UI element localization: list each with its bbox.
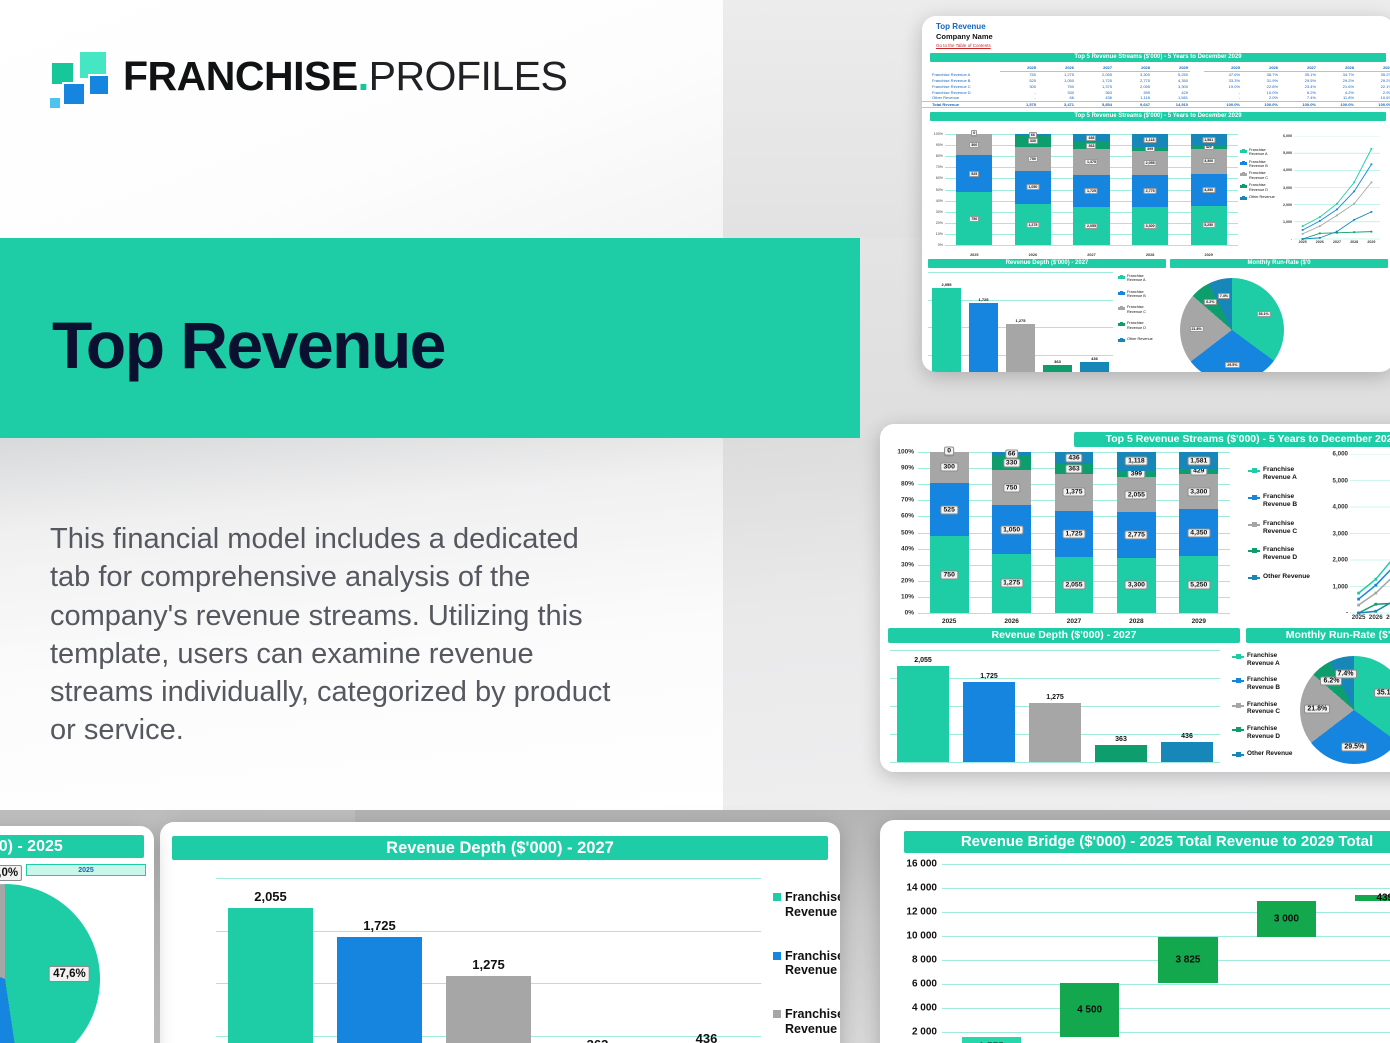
legend-marker	[773, 952, 781, 960]
legend-label: Franchise Revenue A	[1127, 274, 1146, 283]
y-tick: 0%	[938, 243, 943, 247]
x-tick-label: 2027	[1087, 253, 1095, 257]
segment-value-label: 2,055	[1085, 223, 1098, 229]
sheet-subtitle: Company Name	[936, 32, 1390, 41]
revenue-depth-mid: 2,0551,7251,275363436	[890, 650, 1220, 762]
y-tick: 4,000	[1333, 504, 1348, 511]
y-tick: 30%	[901, 561, 914, 568]
legend-marker	[1240, 150, 1247, 153]
x-tick-label: 2028	[1129, 618, 1143, 625]
x-tick: 2027	[1333, 240, 1341, 244]
y-tick: 2 000	[912, 1027, 937, 1038]
stacked-bar: 5,2504,3503,3004291,581	[1179, 452, 1218, 613]
background-panel-top-left	[0, 0, 723, 238]
legend-marker	[1240, 197, 1247, 200]
pie-slice-label: 47,6%	[49, 966, 90, 982]
pie-chart	[0, 884, 100, 1043]
revenue-depth-title: Revenue Depth ($'000) - 2027	[172, 836, 828, 860]
stacked-plot-area: 750525300020251,2751,0507503306620262,05…	[945, 134, 1238, 245]
gridline	[942, 864, 1390, 865]
y-tick: 20%	[901, 577, 914, 584]
bar-value-label: 2,055	[914, 657, 932, 664]
segment-value-label: 1,050	[1000, 525, 1023, 534]
stacked-segment: 1,118	[1132, 134, 1168, 147]
segment-value-label: 2,055	[1062, 581, 1085, 590]
segment-value-label: 3,300	[1202, 158, 1215, 164]
y-tick: 4 000	[912, 1003, 937, 1014]
pie-slice-label: 7.4%	[1335, 670, 1357, 679]
zero-value-label: 0	[944, 447, 954, 456]
bar	[1080, 362, 1109, 372]
segment-value-label: 4,350	[1202, 187, 1215, 193]
segment-value-label: 330	[1028, 138, 1038, 144]
revenue-depth-banner-mid: Revenue Depth ($'000) - 2027	[888, 628, 1240, 643]
x-tick-label: 2026	[1004, 618, 1018, 625]
y-tick: 40%	[901, 545, 914, 552]
legend-marker	[1118, 307, 1125, 310]
pie-slice-label: 29.5%	[1225, 362, 1239, 368]
revenue-depth-legend: Franchise Revenue AFranchise Revenue BFr…	[773, 890, 840, 1043]
logo-square-blue-right	[88, 74, 110, 96]
bar-value-label: 363	[587, 1037, 609, 1043]
pie-slice-label: 35.1%	[1256, 311, 1270, 317]
bar-value-label: 1,275	[1015, 318, 1025, 323]
stacked-segment: 300	[956, 134, 992, 155]
y-tick: 6,000	[1283, 134, 1292, 138]
x-tick-label: 2029	[1192, 618, 1206, 625]
stacked-bar: 7505253000	[930, 452, 969, 613]
x-tick: 2026	[1316, 240, 1324, 244]
segment-value-label: 5,250	[1202, 222, 1215, 228]
waterfall-value: 439	[1376, 893, 1390, 904]
legend-marker	[1248, 550, 1260, 552]
bar	[963, 682, 1014, 763]
segment-value-label: 399	[1128, 470, 1145, 479]
bar-value-label: 436	[1181, 733, 1193, 740]
y-tick: 40%	[936, 199, 943, 203]
logo-squares-icon	[46, 48, 108, 104]
stacked-segment: 2,055	[1073, 207, 1109, 245]
legend-item: Franchise Revenue C	[1118, 305, 1153, 314]
legend-item: Franchise Revenue C	[1240, 171, 1275, 180]
legend-marker	[1118, 323, 1125, 326]
stacked-segment: 1,118	[1117, 452, 1156, 471]
pie-slice-label: 21.8%	[1304, 704, 1330, 713]
revenue-depth-legend-mid: Franchise Revenue AFranchise Revenue BFr…	[1232, 652, 1292, 766]
gridline	[942, 912, 1390, 913]
legend-label: Franchise Revenue A	[1249, 148, 1268, 157]
x-tick: 2026	[1369, 614, 1383, 621]
y-tick: 5,000	[1283, 151, 1292, 155]
y-tick: 90%	[901, 465, 914, 472]
legend-label: Other Revenue	[1263, 573, 1310, 581]
stacked-segment: 525	[956, 155, 992, 192]
y-tick: 80%	[901, 481, 914, 488]
gridline	[216, 878, 761, 879]
x-tick-label: 2029	[1204, 253, 1212, 257]
line-series	[1303, 164, 1372, 230]
stacked-segment: 2,055	[1132, 151, 1168, 175]
sheet-table-banner: Top 5 Revenue Streams ($'000) - 5 Years …	[930, 53, 1386, 62]
brand-name-thin: PROFILES	[369, 53, 568, 99]
legend-item: Franchise Revenue C	[1232, 701, 1292, 716]
pie-slice-label: 29.5%	[1341, 742, 1367, 751]
stacked-y-axis-labels: 0%10%20%30%40%50%60%70%80%90%100%	[890, 452, 916, 627]
pie-slice-label: 21.8%	[1190, 326, 1204, 332]
stacked-segment: 2,055	[1117, 477, 1156, 511]
stacked-segment: 363	[1073, 142, 1109, 149]
legend-item: Franchise Revenue B	[773, 949, 840, 979]
y-tick: 1,000	[1283, 220, 1292, 224]
legend-item: Franchise Revenue A	[1118, 274, 1153, 283]
waterfall-value: 3 825	[1175, 955, 1200, 966]
stacked-bar: 2,0551,7251,375363436	[1073, 134, 1109, 245]
legend-label: Franchise Revenue D	[1263, 546, 1297, 562]
legend-label: Other Revenue	[1247, 750, 1292, 758]
segment-value-label: 2,775	[1144, 188, 1157, 194]
stacked-segment: 3,300	[1132, 207, 1168, 245]
x-tick: 2028	[1350, 240, 1358, 244]
legend-item: Franchise Revenue C	[773, 1007, 840, 1037]
card-mid-title: Top 5 Revenue Streams ($'000) - 5 Years …	[1074, 432, 1390, 447]
legend-item: Franchise Revenue A	[1248, 466, 1310, 482]
waterfall-bar: 4 500	[1060, 983, 1119, 1037]
stacked-y-axis: 0%10%20%30%40%50%60%70%80%90%100%	[928, 134, 944, 254]
stacked-bar: 1,2751,05075033066	[992, 452, 1031, 613]
stacked-segment: 436	[1055, 452, 1094, 464]
legend-label: Franchise Revenue C	[785, 1007, 840, 1037]
stacked-segment: 1,050	[1015, 171, 1051, 205]
segment-value-label: 436	[1086, 135, 1096, 141]
legend-item: Other Revenue	[1240, 195, 1275, 200]
bar	[1161, 742, 1212, 762]
stacked-segment: 3,300	[1191, 149, 1227, 174]
y-tick: 100%	[897, 449, 914, 456]
segment-value-label: 399	[1145, 146, 1155, 152]
y-tick: 8 000	[912, 955, 937, 966]
bar	[897, 666, 948, 762]
waterfall-bar: 3 825	[1158, 937, 1217, 983]
y-tick: 3,000	[1333, 530, 1348, 537]
stacked-segment: 66	[1015, 134, 1051, 136]
monthly-runrate-2025-title: y Run-Rate ($'000) - 2025	[0, 835, 144, 858]
gridline	[942, 1032, 1390, 1033]
legend-marker	[1232, 656, 1244, 658]
legend-marker	[1240, 173, 1247, 176]
legend-label: Other Revenue	[1249, 195, 1275, 199]
stacked-segment: 750	[1015, 147, 1051, 171]
legend-marker	[773, 893, 781, 901]
legend-marker	[1118, 276, 1125, 279]
y-tick: 3,000	[1283, 186, 1292, 190]
y-tick: 50%	[901, 529, 914, 536]
revenue-depth-legend-small: Franchise Revenue AFranchise Revenue BFr…	[1118, 274, 1153, 349]
stacked-bar: 1,2751,05075033066	[1015, 134, 1051, 245]
y-tick: 0%	[905, 610, 914, 617]
legend-item: Other Revenue	[1232, 750, 1292, 758]
stacked-bar: 3,3002,7752,0553991,118	[1132, 134, 1168, 245]
y-tick: 5,000	[1333, 477, 1348, 484]
revenue-bridge-card[interactable]: Revenue Bridge ($'000) - 2025 Total Reve…	[880, 820, 1390, 1043]
stacked-segment: 1,581	[1179, 452, 1218, 469]
segment-value-label: 4,350	[1187, 528, 1210, 537]
pie-slice-label: 6.2%	[1204, 299, 1216, 305]
segment-value-label: 300	[969, 142, 979, 148]
gridline	[890, 650, 1220, 651]
bar-value-label: 2,055	[254, 889, 287, 904]
y-tick: 20%	[936, 221, 943, 225]
legend-label: Franchise Revenue C	[1249, 171, 1268, 180]
segment-value-label: 1,581	[1202, 137, 1215, 143]
monthly-runrate-banner-small: Monthly Run-Rate ($'0	[1170, 259, 1388, 268]
segment-value-label: 750	[1003, 483, 1020, 492]
segment-value-label: 2,055	[1144, 160, 1157, 166]
spreadsheet-preview-card[interactable]: Top Revenue Company Name Go to the Table…	[922, 16, 1390, 372]
legend-item: Franchise Revenue D	[1232, 725, 1292, 740]
stacked-segment: 5,250	[1191, 206, 1227, 245]
legend-item: Franchise Revenue B	[1240, 160, 1275, 169]
page-title: Top Revenue	[52, 307, 445, 383]
stacked-segment: 1,375	[1055, 474, 1094, 511]
y-tick: 10%	[936, 232, 943, 236]
legend-label: Franchise Revenue D	[1249, 183, 1268, 192]
bar	[1029, 703, 1080, 763]
monthly-runrate-banner-mid: Monthly Run-Rate ($'0	[1246, 628, 1390, 643]
segment-value-label: 66	[1005, 449, 1019, 458]
stacked-segment: 525	[930, 483, 969, 537]
y-tick: -	[1346, 610, 1348, 617]
x-tick-label: 2028	[1146, 253, 1154, 257]
segment-value-label: 3,300	[1187, 487, 1210, 496]
line-chart-svg	[1350, 454, 1390, 626]
legend-label: Franchise Revenue B	[785, 949, 840, 979]
legend-label: Franchise Revenue C	[1263, 520, 1297, 536]
legend-label: Franchise Revenue B	[1247, 676, 1280, 691]
legend-label: Franchise Revenue D	[1247, 725, 1280, 740]
year-tab-badge: 2025	[26, 864, 146, 876]
bar-value-label: 2,055	[941, 282, 951, 287]
x-tick-label: 2025	[942, 618, 956, 625]
legend-label: Franchise Revenue B	[1127, 290, 1146, 299]
y-tick: 70%	[901, 497, 914, 504]
segment-value-label: 1,725	[1062, 530, 1085, 539]
y-tick: 2,000	[1283, 203, 1292, 207]
segment-value-label: 363	[1086, 143, 1096, 149]
bar-value-label: 1,275	[1046, 694, 1064, 701]
legend-label: Franchise Revenue B	[1249, 160, 1268, 169]
legend-marker	[1118, 292, 1125, 295]
y-tick: 60%	[936, 176, 943, 180]
stacked-chart-card[interactable]: Top 5 Revenue Streams ($'000) - 5 Years …	[880, 424, 1390, 772]
revenue-depth-card[interactable]: Revenue Depth ($'000) - 2027 2,0551,7251…	[160, 822, 840, 1043]
x-tick-label: 2027	[1067, 618, 1081, 625]
gridline	[918, 613, 1230, 614]
segment-value-label: 1,375	[1085, 159, 1098, 165]
pie-slice-label: 0,0%	[0, 865, 22, 881]
stacked-plot: 750525300020251,2751,0507503306620262,05…	[918, 452, 1230, 613]
bar	[1043, 365, 1072, 372]
y-tick: 16 000	[906, 859, 937, 870]
legend-label: Franchise Revenue C	[1247, 701, 1280, 716]
bar	[446, 976, 531, 1043]
legend-marker	[773, 1010, 781, 1018]
stacked-segment: 4,350	[1179, 509, 1218, 556]
y-tick: 1,000	[1333, 583, 1348, 590]
pie-2025: 47,6%3,3%19,0%0,0%0,0%	[0, 884, 100, 1043]
segment-value-label: 750	[941, 570, 958, 579]
line-series	[1303, 182, 1372, 234]
y-tick: 70%	[936, 165, 943, 169]
segment-value-label: 2,775	[1125, 530, 1148, 539]
stacked-segment: 3,300	[1117, 558, 1156, 613]
legend-item: Franchise Revenue B	[1248, 493, 1310, 509]
legend-item: Franchise Revenue A	[1232, 652, 1292, 667]
segment-value-label: 1,581	[1187, 456, 1210, 465]
segment-value-label: 750	[1028, 156, 1038, 162]
revenue-depth-plot: 2,0551,7251,275363436	[216, 878, 761, 1043]
stacked-segment: 363	[1055, 464, 1094, 474]
segment-value-label: 66	[1029, 132, 1037, 138]
sheet-title: Top Revenue	[936, 22, 1390, 31]
legend-item: Franchise Revenue B	[1118, 290, 1153, 299]
waterfall-bar: 1 575	[962, 1037, 1021, 1043]
x-tick: 2025	[1299, 240, 1307, 244]
stacked-legend: Franchise Revenue AFranchise Revenue BFr…	[1240, 148, 1275, 203]
segment-value-label: 1,118	[1125, 457, 1148, 466]
waterfall-bar: 439	[1355, 895, 1390, 901]
stacked-segment: 429	[1179, 469, 1218, 474]
segment-value-label: 363	[1065, 464, 1082, 473]
stacked-segment: 300	[930, 452, 969, 483]
segment-value-label: 3,300	[1144, 223, 1157, 229]
bar-value-label: 1,725	[978, 297, 988, 302]
stacked-segment: 2,775	[1132, 175, 1168, 207]
sheet-charts-row: 0%10%20%30%40%50%60%70%80%90%100% 750525…	[928, 134, 1238, 254]
table-total-row: Total Revenue 1,575 3,471 5,854 9,647 14…	[922, 101, 1390, 108]
legend-item: Franchise Revenue B	[1232, 676, 1292, 691]
x-tick-label: 2025	[970, 253, 978, 257]
legend-label: Franchise Revenue A	[1247, 652, 1280, 667]
segment-value-label: 1,275	[1026, 222, 1039, 228]
x-tick: 2027	[1386, 614, 1390, 621]
bar-value-label: 436	[696, 1031, 718, 1043]
legend-label: Franchise Revenue A	[785, 890, 840, 920]
gridline	[945, 245, 1238, 246]
bar	[969, 303, 998, 372]
pie-slice-label: 35.1%	[1374, 689, 1390, 698]
gridline	[928, 272, 1113, 273]
stacked-segment: 436	[1073, 134, 1109, 142]
sheet-header: Top Revenue Company Name Go to the Table…	[922, 16, 1390, 48]
stacked-segment: 1,050	[992, 505, 1031, 554]
revenue-depth-banner-small: Revenue Depth ($'000) - 2027	[928, 259, 1166, 268]
y-tick: 2,000	[1333, 557, 1348, 564]
stacked-bar: 2,0551,7251,375363436	[1055, 452, 1094, 613]
line-series	[1359, 526, 1390, 606]
stacked-segment: 399	[1132, 147, 1168, 152]
y-tick: 6 000	[912, 979, 937, 990]
stacked-segment: 1,725	[1073, 175, 1109, 207]
y-tick: 30%	[936, 210, 943, 214]
segment-value-label: 525	[969, 171, 979, 177]
segment-value-label: 1,050	[1026, 184, 1039, 190]
stacked-segment: 429	[1191, 146, 1227, 149]
legend-marker	[1232, 729, 1244, 731]
stacked-legend-mid: Franchise Revenue AFranchise Revenue BFr…	[1248, 466, 1310, 592]
segment-value-label: 3,300	[1125, 581, 1148, 590]
y-tick: 10%	[901, 593, 914, 600]
legend-marker	[1232, 705, 1244, 707]
legend-item: Franchise Revenue A	[773, 890, 840, 920]
y-tick: 12 000	[906, 907, 937, 918]
pie-chart-small: 35.1%29.5%21.8%6.2%7.4%	[1180, 278, 1284, 372]
legend-marker	[1248, 524, 1260, 526]
y-tick: 4,000	[1283, 168, 1292, 172]
logo-square-blue-lower	[62, 82, 86, 106]
brand-wordmark: FRANCHISE.PROFILES	[123, 53, 567, 100]
legend-item: Franchise Revenue D	[1248, 546, 1310, 562]
segment-value-label: 300	[941, 463, 958, 472]
legend-marker	[1240, 162, 1247, 165]
legend-marker	[1248, 577, 1260, 579]
segment-value-label: 2,055	[1125, 490, 1148, 499]
legend-item: Franchise Revenue C	[1248, 520, 1310, 536]
stacked-bar: 7505253000	[956, 134, 992, 245]
monthly-runrate-2025-card[interactable]: y Run-Rate ($'000) - 2025 2025 47,6%3,3%…	[0, 826, 154, 1043]
bar-value-label: 1,275	[472, 957, 505, 972]
revenue-table: 2025 2026 2027 2028 2029 2025 2026 2027 …	[922, 65, 1390, 108]
y-tick: 50%	[936, 188, 943, 192]
legend-label: Franchise Revenue D	[1127, 321, 1146, 330]
gridline	[942, 984, 1390, 985]
legend-label: Franchise Revenue B	[1263, 493, 1297, 509]
waterfall-value: 3 000	[1274, 914, 1299, 925]
legend-marker	[1248, 470, 1260, 472]
stacked-segment: 3,300	[1179, 474, 1218, 510]
table-of-contents-link[interactable]: Go to the Table of Contents	[936, 43, 1390, 48]
line-chart-svg	[1294, 136, 1380, 248]
brand-logo: FRANCHISE.PROFILES	[46, 48, 567, 104]
bar-value-label: 1,725	[980, 673, 998, 680]
legend-marker	[1248, 497, 1260, 499]
y-tick: 6,000	[1333, 451, 1348, 458]
legend-marker	[1232, 680, 1244, 682]
bar-value-label: 436	[1091, 356, 1098, 361]
stacked-segment: 4,350	[1191, 174, 1227, 206]
segment-value-label: 1,725	[1085, 188, 1098, 194]
segment-value-label: 330	[1003, 458, 1020, 467]
x-tick-label: 2026	[1029, 253, 1037, 257]
revenue-depth-small: 2,0551,7251,275363436	[928, 272, 1113, 372]
stacked-bar: 5,2504,3503,3004291,581	[1191, 134, 1227, 245]
legend-label: Franchise Revenue A	[1263, 466, 1297, 482]
bar	[1095, 745, 1146, 762]
line-series	[1359, 571, 1390, 613]
stacked-segment: 399	[1117, 471, 1156, 478]
logo-square-lightblue	[48, 96, 62, 110]
x-tick: 2025	[1352, 614, 1366, 621]
y-tick: 60%	[901, 513, 914, 520]
stacked-bar: 3,3002,7752,0553991,118	[1117, 452, 1156, 613]
stacked-segment: 66	[992, 452, 1031, 455]
bar	[337, 937, 422, 1043]
revenue-bridge-title: Revenue Bridge ($'000) - 2025 Total Reve…	[904, 831, 1390, 853]
segment-value-label: 1,275	[1000, 579, 1023, 588]
gridline	[942, 1008, 1390, 1009]
legend-marker	[1232, 754, 1244, 756]
segment-value-label: 5,250	[1187, 580, 1210, 589]
stacked-segment: 1,725	[1055, 511, 1094, 558]
